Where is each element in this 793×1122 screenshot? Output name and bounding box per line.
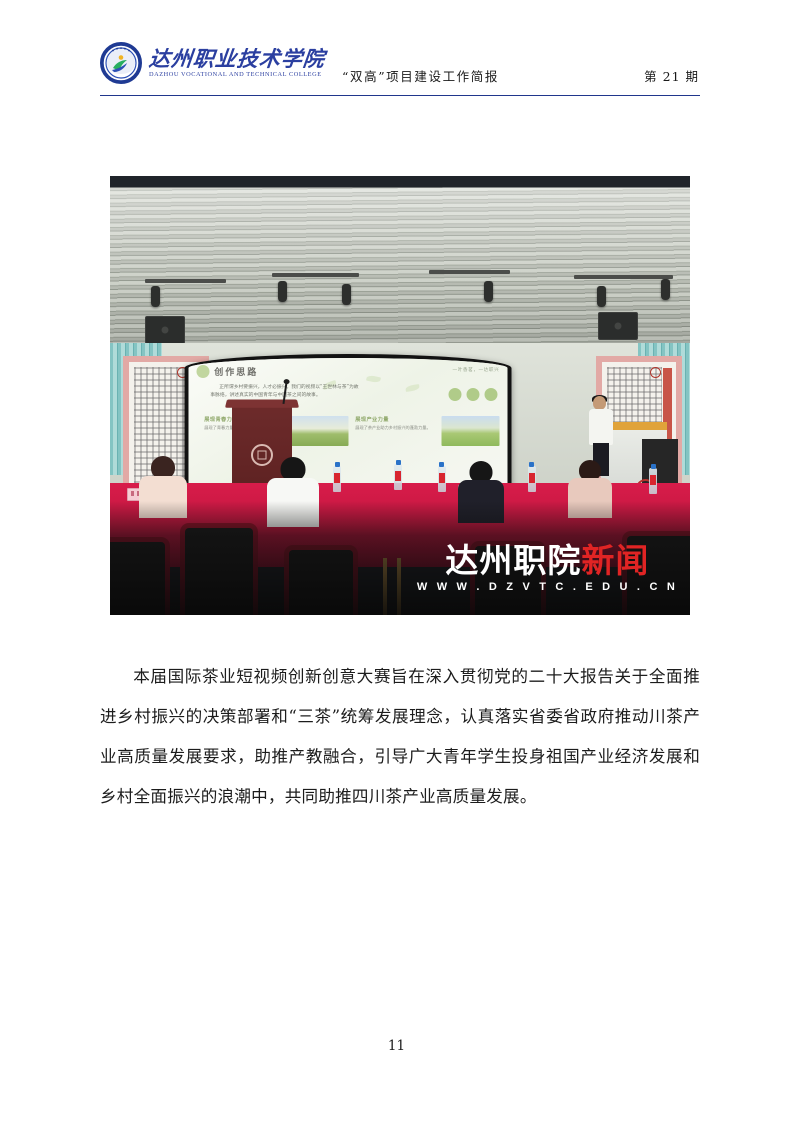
college-name-en: DAZHOU VOCATIONAL AND TECHNICAL COLLEGE xyxy=(149,72,329,78)
event-photograph: 创作思路 一叶香茗，一达职兴 正所谓乡村要振兴，人才必振兴。我们的视频以“王世林… xyxy=(110,176,690,615)
document-page: 达州职业技术学院 DAZHOU VOCATIONAL AND TECHNICAL… xyxy=(0,0,793,1122)
water-bottle xyxy=(333,466,341,492)
issue-number: 第 21 期 xyxy=(644,66,699,85)
college-masthead: 达州职业技术学院 DAZHOU VOCATIONAL AND TECHNICAL… xyxy=(100,42,325,84)
slide-column-text: 展现了茶产业助力乡村振兴的蓬勃力量。 xyxy=(355,425,434,432)
bulletin-title: “双高”项目建设工作简报 xyxy=(342,66,499,85)
spotlight-icon xyxy=(278,281,287,302)
leaf-decoration-icon xyxy=(366,374,381,383)
judge-torso xyxy=(568,478,612,518)
judge-torso xyxy=(139,476,187,518)
header-divider xyxy=(100,95,700,96)
water-bottle xyxy=(649,468,657,494)
seated-judge xyxy=(139,456,187,518)
presenter-head xyxy=(593,396,606,410)
water-bottle xyxy=(528,466,536,492)
article-paragraph: 本届国际茶业短视频创新创意大赛旨在深入贯彻党的二十大报告关于全面推进乡村振兴的决… xyxy=(100,657,700,817)
table-leg xyxy=(383,558,387,615)
auditorium-chair xyxy=(180,523,258,615)
judge-torso xyxy=(267,478,319,527)
spotlight-icon xyxy=(661,279,670,300)
light-track xyxy=(272,273,359,277)
seated-judge xyxy=(568,460,612,518)
auditorium-chair xyxy=(470,541,546,615)
spotlight-icon xyxy=(484,281,493,302)
auditorium-chair xyxy=(622,531,690,615)
water-bottle xyxy=(438,466,446,492)
location-icon xyxy=(466,388,479,401)
table-leg xyxy=(397,558,401,615)
camera-icon xyxy=(448,388,461,401)
tea-field-photo-1 xyxy=(290,416,348,446)
light-track xyxy=(574,275,673,279)
leaf-badge-icon xyxy=(196,365,209,378)
water-bottle xyxy=(394,464,402,490)
spotlight-icon xyxy=(342,284,351,305)
leaf-decoration-icon xyxy=(405,384,420,392)
panel-seal-icon xyxy=(650,367,661,378)
college-wordmark: 达州职业技术学院 DAZHOU VOCATIONAL AND TECHNICAL… xyxy=(149,48,325,78)
slide-tagline: 一叶香茗，一达职兴 xyxy=(453,367,500,373)
auditorium-chair xyxy=(284,545,358,615)
spotlight-icon xyxy=(151,286,160,307)
leaf-icon xyxy=(484,388,497,401)
presenter-shirt xyxy=(589,409,613,445)
light-track xyxy=(429,270,510,274)
page-number: 11 xyxy=(0,1038,793,1054)
slide-title: 创作思路 xyxy=(214,365,258,378)
judge-torso xyxy=(458,480,504,523)
light-track xyxy=(145,279,226,283)
slide-column: 展现产业力量 展现了茶产业助力乡村振兴的蓬勃力量。 xyxy=(355,416,434,432)
slide-column-heading: 展现产业力量 xyxy=(355,416,434,423)
ceiling-speaker xyxy=(598,312,638,340)
slide-icon-badges xyxy=(448,388,497,401)
college-crest-icon xyxy=(100,42,142,84)
seated-judge xyxy=(458,461,504,523)
page-header: 达州职业技术学院 DAZHOU VOCATIONAL AND TECHNICAL… xyxy=(100,40,700,96)
auditorium-chair xyxy=(110,537,170,615)
podium-top xyxy=(225,400,299,408)
college-name-cn: 达州职业技术学院 xyxy=(148,48,326,69)
tea-field-photo-2 xyxy=(441,416,499,446)
spotlight-icon xyxy=(597,286,606,307)
ceiling-speaker xyxy=(145,316,185,344)
seated-judge xyxy=(267,457,319,527)
